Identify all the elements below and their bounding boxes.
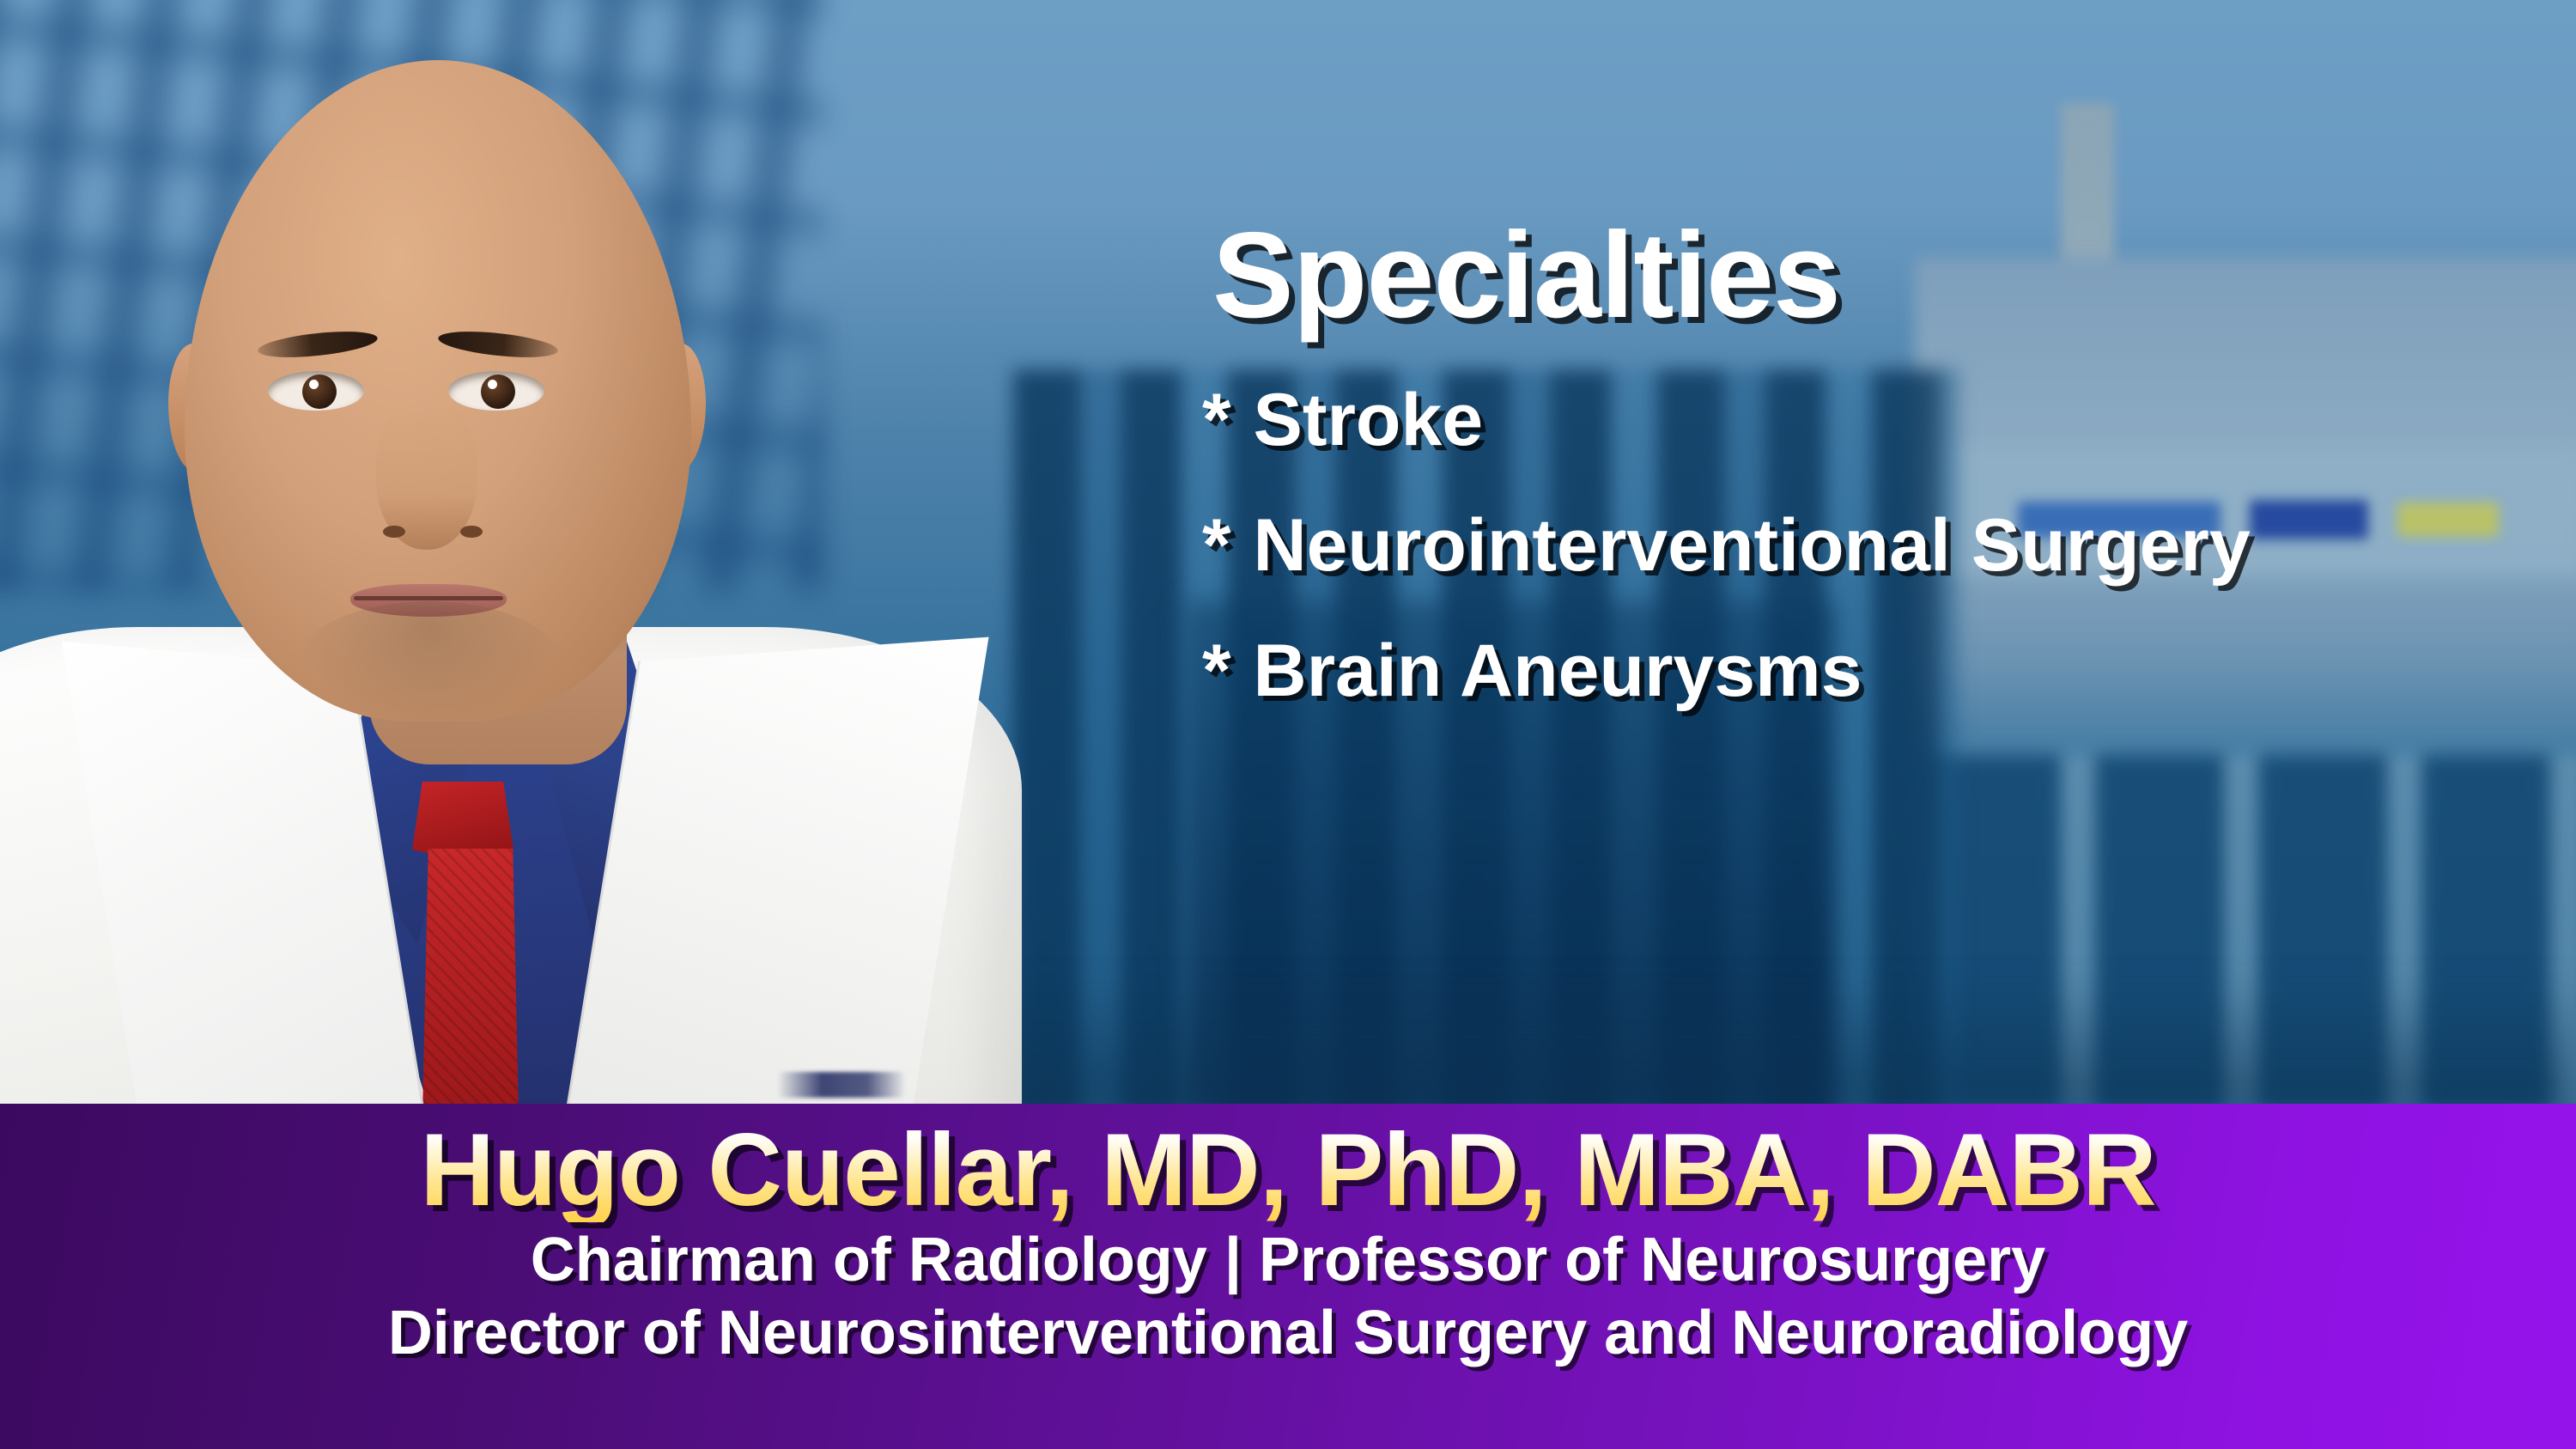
iris-left <box>302 374 337 409</box>
name-banner: Hugo Cuellar, MD, PhD, MBA, DABR Chairma… <box>0 1104 2576 1449</box>
specialty-label: Brain Aneurysms <box>1253 634 1862 708</box>
specialty-item-stroke: * Stroke <box>1202 383 2542 457</box>
specialty-item-brain-aneurysms: * Brain Aneurysms <box>1202 634 2542 708</box>
asterisk-bullet-icon: * <box>1202 634 1230 708</box>
eye-highlight-right <box>488 380 497 389</box>
nostril-left <box>383 526 405 538</box>
specialties-list: * Stroke * Neurointerventional Surgery *… <box>1202 383 2542 708</box>
specialties-title: Specialties <box>1212 215 2542 337</box>
coat-embroidery <box>777 1072 906 1098</box>
doctor-title-line-2: Director of Neurosinterventional Surgery… <box>0 1299 2576 1368</box>
slide-root: Specialties * Stroke * Neurointervention… <box>0 0 2576 1449</box>
eye-highlight-left <box>309 380 319 389</box>
specialty-label: Neurointerventional Surgery <box>1253 508 2250 582</box>
specialties-block: Specialties * Stroke * Neurointervention… <box>1202 215 2542 759</box>
specialty-label: Stroke <box>1253 383 1483 457</box>
iris-right <box>481 374 515 409</box>
mouth-line <box>354 596 503 600</box>
chin-shadow <box>296 601 562 730</box>
nostril-right <box>460 526 483 538</box>
asterisk-bullet-icon: * <box>1202 383 1230 457</box>
necktie <box>422 849 519 1115</box>
doctor-portrait <box>0 0 1073 1117</box>
asterisk-bullet-icon: * <box>1202 508 1230 582</box>
doctor-title-line-1: Chairman of Radiology | Professor of Neu… <box>0 1226 2576 1295</box>
doctor-name: Hugo Cuellar, MD, PhD, MBA, DABR <box>0 1104 2576 1222</box>
specialty-item-neurointerventional-surgery: * Neurointerventional Surgery <box>1202 508 2542 582</box>
